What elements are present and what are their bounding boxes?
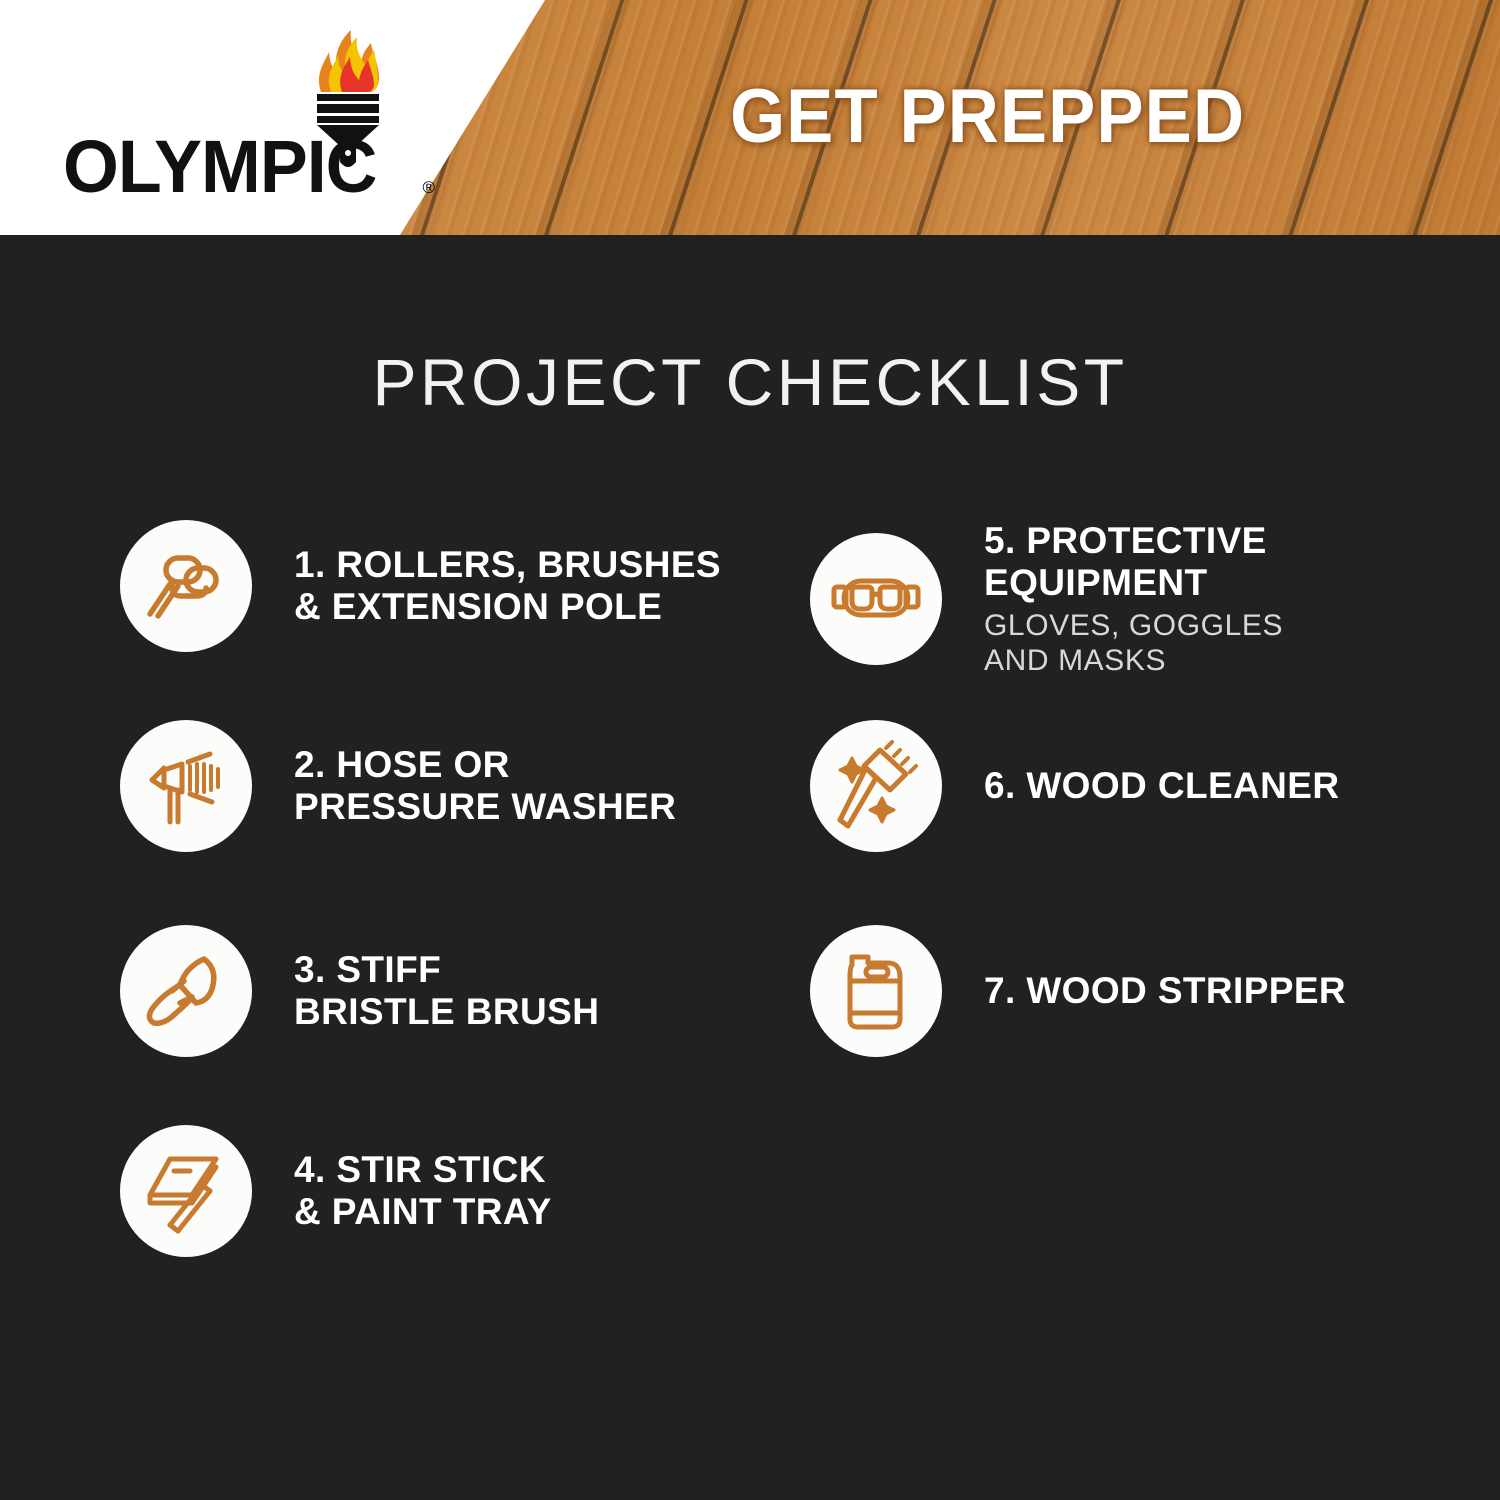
checklist-item-5-label: 5. PROTECTIVE EQUIPMENT xyxy=(984,520,1283,604)
checklist-item-4-label: 4. STIR STICK & PAINT TRAY xyxy=(294,1149,552,1233)
checklist-item-3-label: 3. STIFF BRISTLE BRUSH xyxy=(294,949,599,1033)
checklist-item-7[interactable]: 7. WOOD STRIPPER xyxy=(810,925,1500,1057)
paint-roller-icon xyxy=(120,520,252,652)
checklist-item-1-text: 1. ROLLERS, BRUSHES & EXTENSION POLE xyxy=(294,544,721,628)
checklist-item-4-text: 4. STIR STICK & PAINT TRAY xyxy=(294,1149,552,1233)
chemical-jug-icon xyxy=(810,925,942,1057)
header-banner: OLYMPIC ® GET PREPPED xyxy=(0,0,1500,235)
checklist-item-5[interactable]: 5. PROTECTIVE EQUIPMENT GLOVES, GOGGLES … xyxy=(810,520,1500,678)
checklist-item-7-label: 7. WOOD STRIPPER xyxy=(984,970,1346,1012)
checklist-item-3[interactable]: 3. STIFF BRISTLE BRUSH xyxy=(120,925,820,1057)
checklist-item-2-label: 2. HOSE OR PRESSURE WASHER xyxy=(294,744,676,828)
checklist-item-1[interactable]: 1. ROLLERS, BRUSHES & EXTENSION POLE xyxy=(120,520,820,652)
checklist-item-6-text: 6. WOOD CLEANER xyxy=(984,765,1339,807)
bristle-brush-icon xyxy=(120,925,252,1057)
olympic-wordmark: OLYMPIC xyxy=(63,130,433,204)
checklist-item-1-label: 1. ROLLERS, BRUSHES & EXTENSION POLE xyxy=(294,544,721,628)
registered-trademark-symbol: ® xyxy=(422,178,435,198)
olympic-logo: OLYMPIC ® xyxy=(63,22,433,202)
checklist-item-6-label: 6. WOOD CLEANER xyxy=(984,765,1339,807)
checklist-item-5-sublabel: GLOVES, GOGGLES AND MASKS xyxy=(984,608,1283,678)
page-title: PROJECT CHECKLIST xyxy=(0,345,1500,419)
safety-goggles-icon xyxy=(810,533,942,665)
checklist-item-4[interactable]: 4. STIR STICK & PAINT TRAY xyxy=(120,1125,820,1257)
checklist-item-6[interactable]: 6. WOOD CLEANER xyxy=(810,720,1500,852)
svg-text:OLYMPIC: OLYMPIC xyxy=(63,130,377,204)
checklist-grid: 1. ROLLERS, BRUSHES & EXTENSION POLE xyxy=(0,520,1500,1200)
spray-nozzle-icon xyxy=(120,720,252,852)
checklist-item-5-text: 5. PROTECTIVE EQUIPMENT GLOVES, GOGGLES … xyxy=(984,520,1283,678)
checklist-item-7-text: 7. WOOD STRIPPER xyxy=(984,970,1346,1012)
infographic-page: OLYMPIC ® GET PREPPED PROJECT CHECKLIST xyxy=(0,0,1500,1500)
paint-tray-stir-stick-icon xyxy=(120,1125,252,1257)
banner-title: GET PREPPED xyxy=(690,72,1285,162)
checklist-item-2[interactable]: 2. HOSE OR PRESSURE WASHER xyxy=(120,720,820,852)
checklist-item-3-text: 3. STIFF BRISTLE BRUSH xyxy=(294,949,599,1033)
scrub-brush-sparkle-icon xyxy=(810,720,942,852)
checklist-item-2-text: 2. HOSE OR PRESSURE WASHER xyxy=(294,744,676,828)
